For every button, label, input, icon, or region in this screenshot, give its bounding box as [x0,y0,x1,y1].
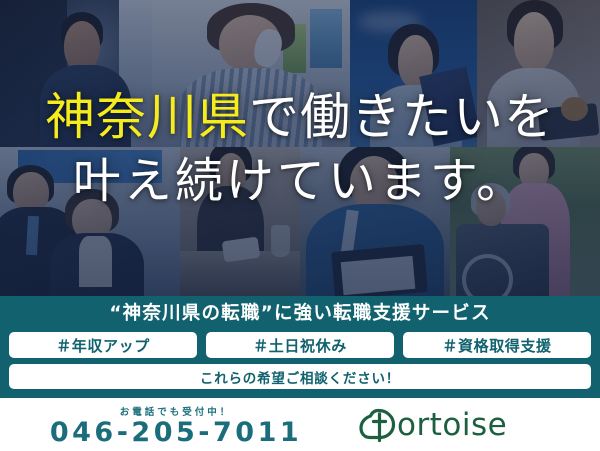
photo-staff-cleaning-counter [180,147,300,296]
photo-woman-on-office-phone [152,0,350,147]
photo-caregiver-with-elderly [450,147,600,296]
hero-photo-collage: 神奈川県で働きたいを 叶え続けています。 [0,0,600,296]
recruitment-banner: 神奈川県で働きたいを 叶え続けています。 “神奈川県の転職”に強い転職支援サービ… [0,0,600,451]
photo-grid [0,0,600,296]
telephone-block: お電話でも受付中！ 046-205-7011 [0,402,352,448]
tortoise-wordmark: ortoise [397,407,507,443]
footer-contact-bar: お電話でも受付中！ 046-205-7011 ortoise [0,398,600,451]
photo-row-top [0,0,600,147]
promo-title: “神奈川県の転職”に強い転職支援サービス [9,301,591,327]
promo-tag-qualification-support[interactable]: ＃資格取得支援 [403,332,591,358]
promo-consult-note[interactable]: これらの希望ご相談ください！ [9,364,591,389]
tortoise-logo[interactable]: ortoise [352,407,600,443]
tortoise-shell-t-icon [358,407,398,443]
telephone-label: お電話でも受付中！ [0,404,352,418]
promo-band: “神奈川県の転職”に強い転職支援サービス ＃年収アップ ＃土日祝休み ＃資格取得… [0,296,600,398]
photo-worker-with-clipboard [300,147,450,296]
promo-tag-weekend-holiday[interactable]: ＃土日祝休み [206,332,394,358]
photo-woman-serving-food [477,0,600,147]
telephone-number[interactable]: 046-205-7011 [0,418,352,448]
promo-tag-row: ＃年収アップ ＃土日祝休み ＃資格取得支援 [9,332,591,358]
photo-man-driving-smiling [0,0,152,147]
photo-businessman-and-businesswoman [0,147,180,296]
promo-tag-salary-up[interactable]: ＃年収アップ [9,332,197,358]
photo-woman-looking-up-blue-sky [350,0,477,147]
photo-row-bottom [0,147,600,296]
